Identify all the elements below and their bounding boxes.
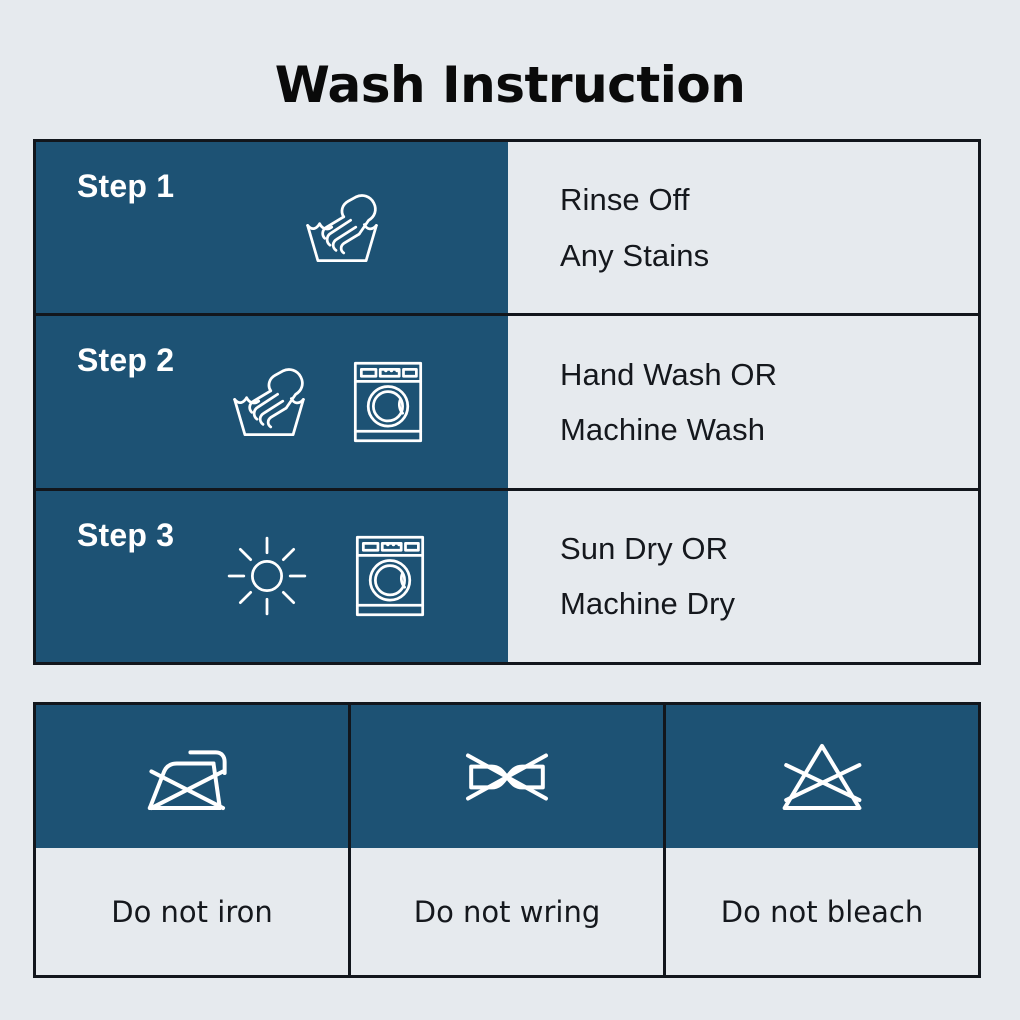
table-row: Step 3 — [36, 491, 978, 662]
table-row: Step 2 — [36, 316, 978, 490]
page-title: Wash Instruction — [0, 56, 1020, 114]
symbol-cell-do-not-wring: Do not wring — [351, 705, 666, 975]
step-icon-group — [224, 533, 428, 619]
step-text-line: Rinse Off — [560, 172, 978, 227]
step-text-cell: Hand Wash OR Machine Wash — [508, 316, 978, 487]
step-text-cell: Sun Dry OR Machine Dry — [508, 491, 978, 662]
washing-machine-icon — [352, 533, 428, 619]
symbol-cell-do-not-bleach: Do not bleach — [666, 705, 978, 975]
table-row: Step 1 — [36, 142, 978, 316]
symbol-caption-area: Do not wring — [351, 848, 663, 975]
step-text-line: Hand Wash OR — [560, 347, 978, 402]
step-text-line: Sun Dry OR — [560, 521, 978, 576]
step-icon-cell: Step 3 — [36, 491, 508, 662]
symbol-caption: Do not iron — [111, 895, 272, 929]
steps-table: Step 1 — [33, 139, 981, 665]
step-icon-cell: Step 2 — [36, 316, 508, 487]
symbol-cell-do-not-iron: Do not iron — [36, 705, 351, 975]
step-text-line: Any Stains — [560, 228, 978, 283]
symbol-icon-area — [351, 705, 663, 848]
step-icon-group — [226, 359, 426, 445]
do-not-wring-icon — [455, 738, 559, 816]
step-label: Step 2 — [77, 342, 174, 379]
symbol-caption-area: Do not iron — [36, 848, 348, 975]
symbol-icon-area — [666, 705, 978, 848]
do-not-bleach-icon — [770, 738, 874, 816]
hand-wash-icon — [299, 185, 385, 271]
step-text-line: Machine Wash — [560, 402, 978, 457]
step-icon-group — [299, 185, 385, 271]
do-not-iron-icon — [140, 738, 244, 816]
symbol-icon-area — [36, 705, 348, 848]
step-text-cell: Rinse Off Any Stains — [508, 142, 978, 313]
step-text-line: Machine Dry — [560, 576, 978, 631]
symbol-caption-area: Do not bleach — [666, 848, 978, 975]
symbol-caption: Do not bleach — [721, 895, 923, 929]
symbols-table: Do not iron Do not wring — [33, 702, 981, 978]
step-label: Step 3 — [77, 517, 174, 554]
wash-instruction-poster: Wash Instruction Step 1 — [0, 0, 1020, 1020]
symbol-caption: Do not wring — [414, 895, 601, 929]
washing-machine-icon — [350, 359, 426, 445]
hand-wash-icon — [226, 359, 312, 445]
step-label: Step 1 — [77, 168, 174, 205]
step-icon-cell: Step 1 — [36, 142, 508, 313]
sun-icon — [224, 533, 310, 619]
